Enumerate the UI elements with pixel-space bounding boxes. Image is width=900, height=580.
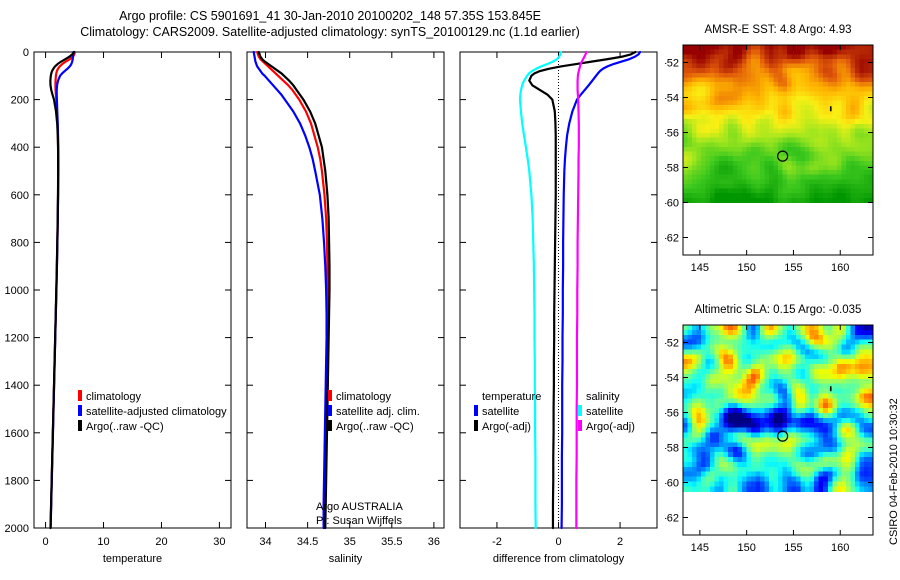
map-cell [697,374,702,379]
map-cell [733,457,738,462]
map-cell [810,418,815,423]
map-cell [683,73,688,78]
map-cell [706,101,711,106]
map-cell [737,393,742,398]
map-cell [715,73,720,78]
map-cell [810,101,815,106]
map-cell [805,423,810,428]
legend-item: Argo(..raw -QC) [328,420,420,435]
map-cell [783,384,788,389]
map-cell [828,96,833,101]
map-cell [828,423,833,428]
map-cell [828,398,833,403]
map-x-tick-label: 150 [737,262,755,274]
map-cell [778,77,783,82]
map-cell [823,101,828,106]
map-cell [760,467,765,472]
map-cell [787,179,792,184]
map-cell [755,105,760,110]
map-cell [719,364,724,369]
map-cell [778,369,783,374]
map-cell [746,379,751,384]
map-cell [841,354,846,359]
map-cell [783,345,788,350]
map-cell [688,481,693,486]
map-cell [769,184,774,189]
map-cell [728,408,733,413]
map-cell [688,128,693,133]
map-cell [688,374,693,379]
map-cell [855,354,860,359]
map-cell [692,364,697,369]
map-cell [742,133,747,138]
map-cell [846,428,851,433]
map-cell [787,77,792,82]
map-cell [701,481,706,486]
map-cell [697,486,702,491]
map-cell [855,184,860,189]
legend-label: climatology [86,391,141,403]
map-cell [773,179,778,184]
map-cell [850,165,855,170]
map-cell [751,50,756,55]
map-cell [742,91,747,96]
map-cell [783,105,788,110]
map-cell [715,437,720,442]
map-cell [850,442,855,447]
map-cell [710,433,715,438]
map-cell [697,423,702,428]
map-cell [764,91,769,96]
map-cell [769,165,774,170]
map-cell [801,447,806,452]
map-cell [728,462,733,467]
map-cell [787,364,792,369]
map-cell [769,374,774,379]
map-cell [706,73,711,78]
map-cell [692,179,697,184]
map-cell [832,486,837,491]
map-cell [828,437,833,442]
map-cell [773,325,778,330]
map-cell [769,330,774,335]
map-cell [688,408,693,413]
map-cell [755,77,760,82]
map-cell [719,54,724,59]
argo-program-name: Argo AUSTRALIA [316,500,403,514]
map-cell [864,96,869,101]
map-cell [783,349,788,354]
map-cell [846,82,851,87]
map-cell [755,119,760,124]
map-cell [796,384,801,389]
map-cell [692,124,697,129]
map-cell [742,340,747,345]
map-cell [710,354,715,359]
map-cell [783,54,788,59]
map-cell [778,179,783,184]
map-cell [737,156,742,161]
map-cell [783,379,788,384]
map-cell [819,124,824,129]
map-cell [692,379,697,384]
map-cell [715,50,720,55]
map-cell [810,442,815,447]
map-cell [778,64,783,69]
map-cell [823,64,828,69]
map-cell [801,389,806,394]
map-cell [828,170,833,175]
argo-credit: Argo AUSTRALIAPI: Susan Wijffels [316,500,403,528]
panel-frame [247,52,444,528]
map-cell [751,418,756,423]
map-cell [832,398,837,403]
map-cell [810,147,815,152]
map-cell [819,398,824,403]
map-cell [805,413,810,418]
map-cell [864,452,869,457]
map-cell [724,147,729,152]
map-cell [810,413,815,418]
map-cell [814,423,819,428]
map-cell [697,198,702,203]
map-cell [764,364,769,369]
map-cell [841,379,846,384]
map-cell [728,59,733,64]
map-cell [701,179,706,184]
map-cell [728,105,733,110]
map-cell [792,91,797,96]
map-cell [846,161,851,166]
map-cell [706,330,711,335]
map-cell [832,477,837,482]
map-cell [814,184,819,189]
map-cell [692,128,697,133]
map-cell [773,110,778,115]
map-cell [855,156,860,161]
map-cell [805,389,810,394]
map-cell [715,423,720,428]
map-cell [792,138,797,143]
map-cell [728,179,733,184]
map-cell [819,374,824,379]
map-cell [769,119,774,124]
map-cell [773,442,778,447]
map-cell [801,101,806,106]
map-cell [764,325,769,330]
map-cell [683,124,688,129]
map-cell [751,433,756,438]
map-cell [688,147,693,152]
map-cell [810,462,815,467]
legend-label: climatology [336,391,391,403]
map-cell [706,403,711,408]
map-cell [724,161,729,166]
map-cell [692,45,697,50]
map-cell [801,472,806,477]
map-cell [701,156,706,161]
map-cell [778,384,783,389]
map-cell [692,54,697,59]
map-cell [733,393,738,398]
map-cell [823,179,828,184]
map-cell [701,184,706,189]
map-cell [855,413,860,418]
map-cell [805,101,810,106]
map-cell [742,418,747,423]
map-cell [742,165,747,170]
map-cell [719,452,724,457]
map-cell [760,408,765,413]
map-cell [819,442,824,447]
map-cell [864,384,869,389]
map-cell [701,472,706,477]
map-cell [683,68,688,73]
map-cell [737,369,742,374]
map-cell [715,349,720,354]
map-cell [737,165,742,170]
map-cell [823,433,828,438]
map-cell [737,433,742,438]
map-cell [769,91,774,96]
map-cell [719,114,724,119]
map-cell [742,161,747,166]
map-cell [837,398,842,403]
map-cell [823,193,828,198]
map-cell [787,437,792,442]
map-cell [778,403,783,408]
map-cell [859,408,864,413]
map-cell [823,408,828,413]
map-cell [742,428,747,433]
x-tick-label: 20 [155,536,167,548]
map-cell [792,101,797,106]
map-cell [801,330,806,335]
map-cell [819,447,824,452]
map-cell [823,379,828,384]
map-cell [728,384,733,389]
map-cell [751,64,756,69]
map-cell [755,161,760,166]
map-cell [751,59,756,64]
map-cell [688,64,693,69]
map-cell [810,408,815,413]
map-cell [837,96,842,101]
map-cell [724,442,729,447]
map-cell [796,340,801,345]
map-cell [746,119,751,124]
map-cell [837,133,842,138]
map-cell [837,354,842,359]
map-cell [760,91,765,96]
map-cell [701,175,706,180]
map-cell [841,45,846,50]
map-cell [728,124,733,129]
map-cell [719,486,724,491]
map-cell [755,408,760,413]
map-cell [783,133,788,138]
map-cell [683,119,688,124]
map-cell [841,138,846,143]
map-cell [769,54,774,59]
map-cell [746,193,751,198]
map-cell [814,457,819,462]
map-cell [796,330,801,335]
map-cell [710,142,715,147]
map-cell [764,101,769,106]
map-cell [828,45,833,50]
map-cell [719,354,724,359]
map-cell [814,452,819,457]
map-cell [819,152,824,157]
map-cell [801,408,806,413]
map-cell [864,165,869,170]
map-cell [859,345,864,350]
map-cell [796,96,801,101]
map-cell [728,77,733,82]
map-cell [805,472,810,477]
map-cell [742,374,747,379]
map-cell [828,152,833,157]
map-cell [773,165,778,170]
map-cell [855,462,860,467]
map-cell [724,340,729,345]
map-cell [697,349,702,354]
map-cell [832,142,837,147]
map-cell [706,68,711,73]
map-cell [733,325,738,330]
map-cell [755,147,760,152]
map-cell [773,138,778,143]
map-cell [706,138,711,143]
map-cell [746,359,751,364]
map-cell [769,128,774,133]
map-cell [715,457,720,462]
map-cell [719,330,724,335]
map-cell [769,403,774,408]
map-cell [701,96,706,101]
map-cell [832,165,837,170]
map-cell [769,389,774,394]
map-cell [760,68,765,73]
map-cell [778,189,783,194]
map-cell [701,447,706,452]
map-cell [724,379,729,384]
map-cell [814,156,819,161]
map-cell [764,128,769,133]
map-cell [688,175,693,180]
y-tick-label: 1800 [5,475,29,487]
map-cell [841,114,846,119]
map-cell [728,345,733,350]
map-cell [787,389,792,394]
map-cell [697,398,702,403]
map-cell [719,142,724,147]
map-cell [724,101,729,106]
map-cell [692,354,697,359]
map-cell [746,184,751,189]
map-cell [710,50,715,55]
map-cell [773,369,778,374]
map-cell [746,330,751,335]
map-cell [814,110,819,115]
map-cell [760,87,765,92]
map-cell [832,82,837,87]
map-cell [832,457,837,462]
map-cell [859,114,864,119]
map-cell [850,170,855,175]
map-cell [801,325,806,330]
map-cell [778,398,783,403]
map-cell [710,91,715,96]
legend-item: satellite [474,405,541,420]
map-cell [751,54,756,59]
map-cell [701,452,706,457]
map-cell [706,354,711,359]
map-cell [796,82,801,87]
map-cell [796,437,801,442]
map-cell [837,330,842,335]
map-cell [778,54,783,59]
map-cell [746,447,751,452]
map-cell [742,101,747,106]
map-cell [783,82,788,87]
map-cell [692,161,697,166]
map-cell [737,110,742,115]
map-cell [701,119,706,124]
map-cell [859,467,864,472]
map-cell [801,110,806,115]
map-cell [814,91,819,96]
map-cell [760,452,765,457]
map-cell [859,486,864,491]
legend-label: Argo(-adj) [482,421,531,433]
map-cell [742,413,747,418]
map-cell [737,423,742,428]
map-cell [764,418,769,423]
map-cell [837,77,842,82]
map-cell [692,349,697,354]
map-cell [733,64,738,69]
map-cell [846,54,851,59]
map-cell [706,152,711,157]
map-cell [828,364,833,369]
map-title-sst: AMSR-E SST: 4.8 Argo: 4.93 [661,24,895,36]
map-cell [769,447,774,452]
map-cell [819,165,824,170]
map-cell [737,50,742,55]
map-cell [737,345,742,350]
map-cell [728,133,733,138]
map-cell [737,119,742,124]
map-cell [810,184,815,189]
map-cell [746,91,751,96]
map-cell [746,472,751,477]
map-cell [733,408,738,413]
map-cell [814,384,819,389]
map-cell [719,179,724,184]
map-cell [764,369,769,374]
map-cell [805,119,810,124]
map-cell [719,91,724,96]
map-cell [688,428,693,433]
map-cell [742,330,747,335]
map-cell [814,124,819,129]
map-cell [864,91,869,96]
map-cell [819,133,824,138]
map-cell [819,472,824,477]
map-cell [832,87,837,92]
